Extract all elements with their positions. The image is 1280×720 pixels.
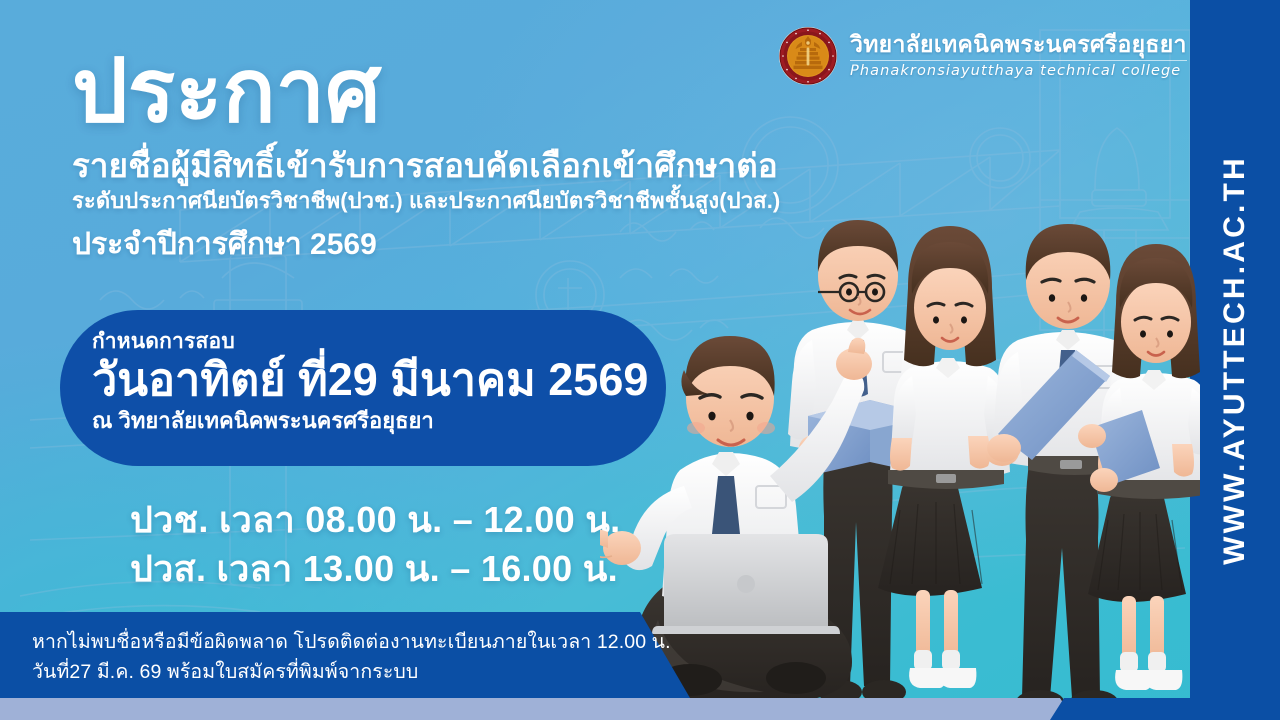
website-url-text: WWW.AYUTTECH.AC.TH	[1218, 155, 1252, 565]
schedule-row-povocho: ปวช. เวลา 08.00 น. – 12.00 น.	[130, 495, 620, 544]
page-title: ประกาศ	[72, 48, 780, 134]
students-illustration	[600, 180, 1200, 720]
footer-notice-text: หากไม่พบชื่อหรือมีข้อผิดพลาด โปรดติดต่อง…	[32, 628, 632, 687]
brand-name-en: Phanakronsiayutthaya technical college	[850, 64, 1187, 80]
poster-canvas: WWW.AYUTTECH.AC.TH	[0, 0, 1280, 720]
brand-name-th: วิทยาลัยเทคนิคพระนครศรีอยุธยา	[850, 32, 1187, 56]
brand-divider	[850, 60, 1187, 61]
college-seal-icon	[778, 26, 838, 86]
website-url-strip[interactable]: WWW.AYUTTECH.AC.TH	[1190, 0, 1280, 720]
footer-accent-strip-dark	[1050, 698, 1192, 720]
laptop-icon	[652, 534, 840, 634]
schedule-list: ปวช. เวลา 08.00 น. – 12.00 น. ปวส. เวลา …	[130, 495, 620, 594]
footer-line-2: วันที่27 มี.ค. 69 พร้อมใบสมัครที่พิมพ์จา…	[32, 658, 632, 688]
footer-line-1: หากไม่พบชื่อหรือมีข้อผิดพลาด โปรดติดต่อง…	[32, 628, 632, 658]
footer-accent-strip	[0, 698, 1190, 720]
brand-lockup: วิทยาลัยเทคนิคพระนครศรีอยุธยา Phanakrons…	[778, 26, 1187, 86]
schedule-row-povoso: ปวส. เวลา 13.00 น. – 16.00 น.	[130, 544, 620, 593]
